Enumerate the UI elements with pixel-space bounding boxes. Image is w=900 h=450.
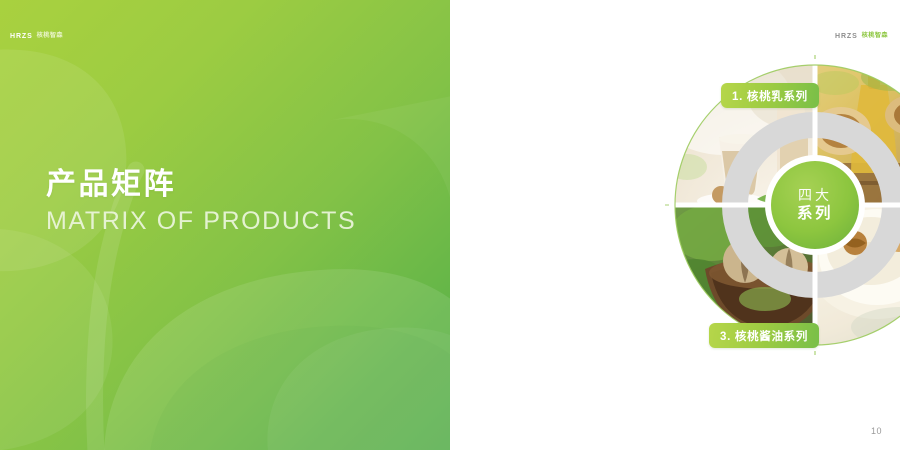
quadrant-label-3[interactable]: 3. 核桃酱油系列 (709, 323, 819, 348)
page-title-block: 产品矩阵 MATRIX OF PRODUCTS (46, 168, 356, 235)
page-number: 10 (871, 426, 882, 436)
brand-logo-left: HRZS 核桃智森 (10, 33, 63, 40)
brand-abbr: HRZS (10, 33, 33, 40)
right-content-panel: HRZS 核桃智森 (450, 0, 900, 450)
center-disc (771, 161, 859, 249)
brand-logo-right: HRZS 核桃智森 (835, 33, 888, 40)
product-matrix-diagram: 四大 系列 1. 核桃乳系列 2. 核桃油系列 3. 核桃酱油系列 4. 核桃发… (665, 55, 900, 355)
slide: HRZS 核桃智森 产品矩阵 MATRIX OF PRODUCTS HRZS 核… (0, 0, 900, 450)
brand-abbr: HRZS (835, 33, 858, 40)
brand-name-cn: 核桃智森 (37, 33, 63, 39)
quadrant-label-1[interactable]: 1. 核桃乳系列 (721, 83, 819, 108)
page-title: 产品矩阵 (46, 168, 356, 202)
left-title-panel: HRZS 核桃智森 产品矩阵 MATRIX OF PRODUCTS (0, 0, 450, 450)
brand-name-cn: 核桃智森 (862, 33, 888, 39)
page-subtitle: MATRIX OF PRODUCTS (46, 208, 356, 236)
